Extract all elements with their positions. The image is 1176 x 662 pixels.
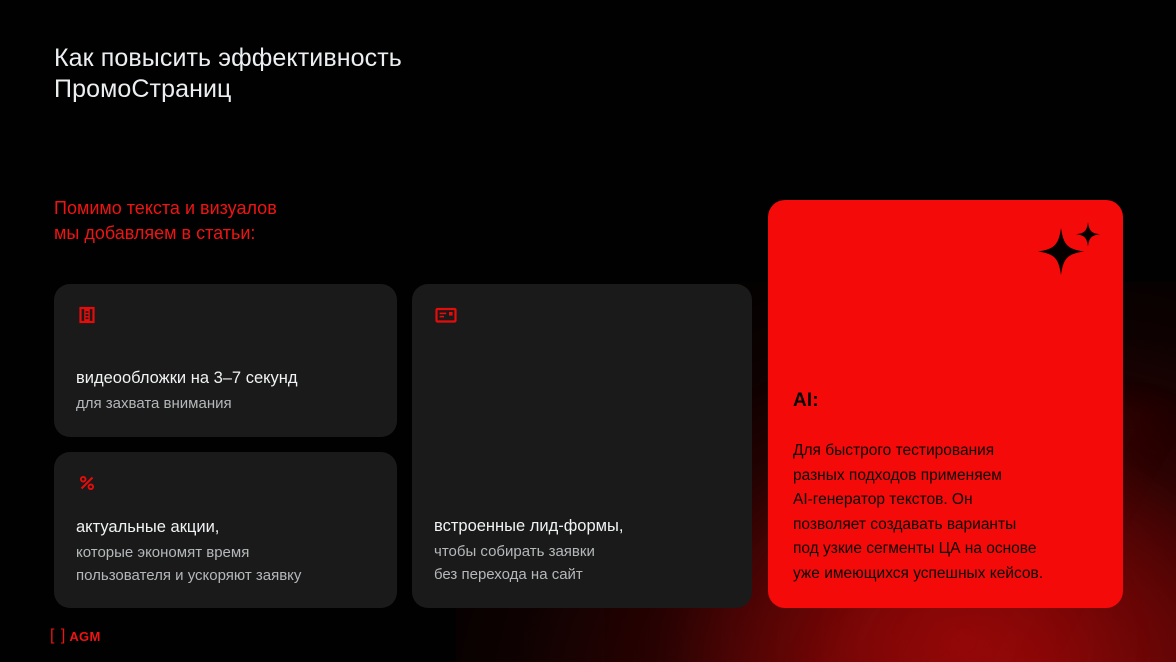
ai-panel[interactable]: AI: Для быстрого тестирования разных под… [768, 200, 1123, 608]
ai-description: Для быстрого тестирования разных подходо… [793, 439, 1105, 586]
percent-icon [76, 472, 98, 494]
slide-root: Как повысить эффективность ПромоСтраниц … [0, 0, 1176, 662]
card-text-block: актуальные акции, которые экономят время… [76, 515, 383, 587]
card-text-block: встроенные лид-формы, чтобы собирать зая… [434, 514, 738, 586]
ai-body: AI: Для быстрого тестирования разных под… [793, 389, 1105, 586]
card-text-block: видеообложки на 3–7 секунд для захвата в… [76, 366, 383, 415]
sparkle-icon [1035, 218, 1101, 280]
card-sub-text: которые экономят время пользователя и ус… [76, 541, 383, 587]
card-lead-text: видеообложки на 3–7 секунд [76, 366, 383, 391]
section-subtitle: Помимо текста и визуалов мы добавляем в … [54, 196, 277, 246]
page-title: Как повысить эффективность ПромоСтраниц [54, 43, 402, 105]
film-strip-icon [76, 304, 98, 326]
card-sub-text: для захвата внимания [76, 392, 383, 415]
brand-logo: [ ] AGM [50, 628, 101, 644]
logo-wordmark: AGM [69, 630, 100, 643]
card-video-covers[interactable]: видеообложки на 3–7 секунд для захвата в… [54, 284, 397, 437]
card-lead-forms[interactable]: встроенные лид-формы, чтобы собирать зая… [412, 284, 752, 608]
card-promotions[interactable]: актуальные акции, которые экономят время… [54, 452, 397, 608]
logo-bracket-icon: [ ] [50, 628, 66, 644]
card-sub-text: чтобы собирать заявки без перехода на са… [434, 540, 738, 586]
card-lead-text: актуальные акции, [76, 515, 383, 540]
card-lead-text: встроенные лид-формы, [434, 514, 738, 539]
lead-form-icon [434, 304, 456, 326]
ai-heading: AI: [793, 389, 1105, 413]
